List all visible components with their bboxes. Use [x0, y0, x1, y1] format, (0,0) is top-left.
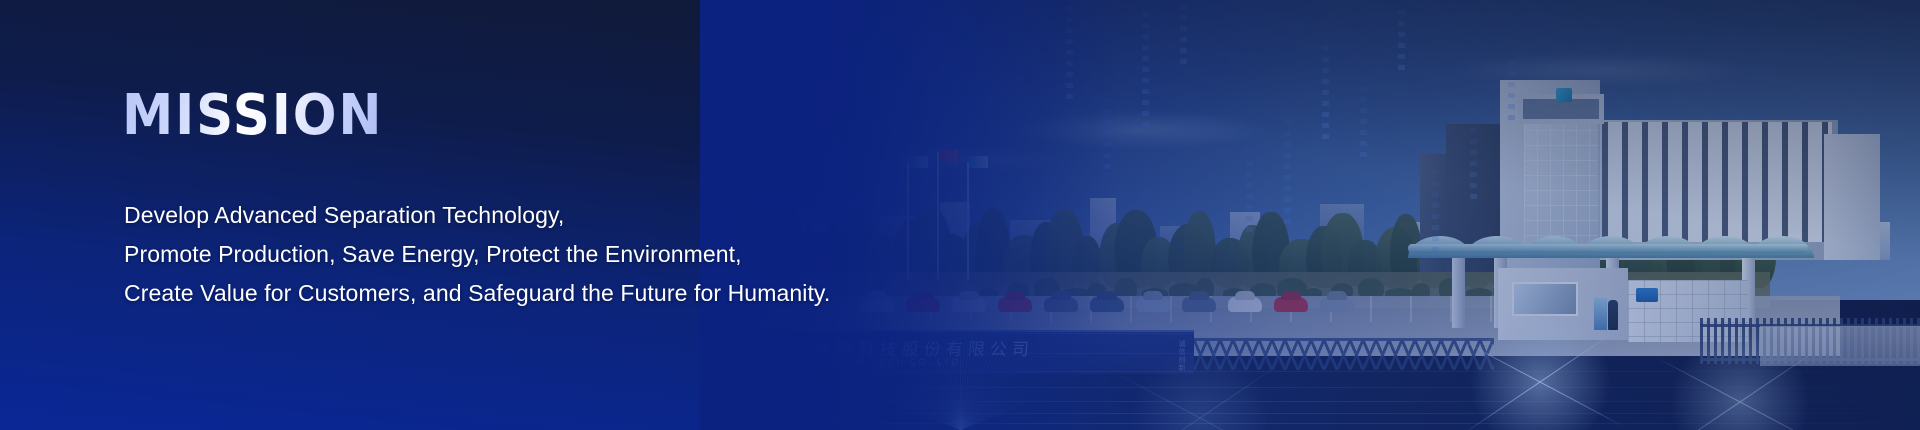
- mission-line-3: Create Value for Customers, and Safeguar…: [124, 274, 830, 313]
- mission-statement: Develop Advanced Separation Technology, …: [124, 196, 830, 313]
- banner-content: MISSION Develop Advanced Separation Tech…: [0, 0, 1920, 430]
- page-title: MISSION: [122, 88, 383, 144]
- mission-line-2: Promote Production, Save Energy, Protect…: [124, 235, 830, 274]
- mission-banner: 江苏久吾高科技股份有限公司 JIANGSU JIUWU HI-TECH CO.,…: [0, 0, 1920, 430]
- mission-line-1: Develop Advanced Separation Technology,: [124, 196, 830, 235]
